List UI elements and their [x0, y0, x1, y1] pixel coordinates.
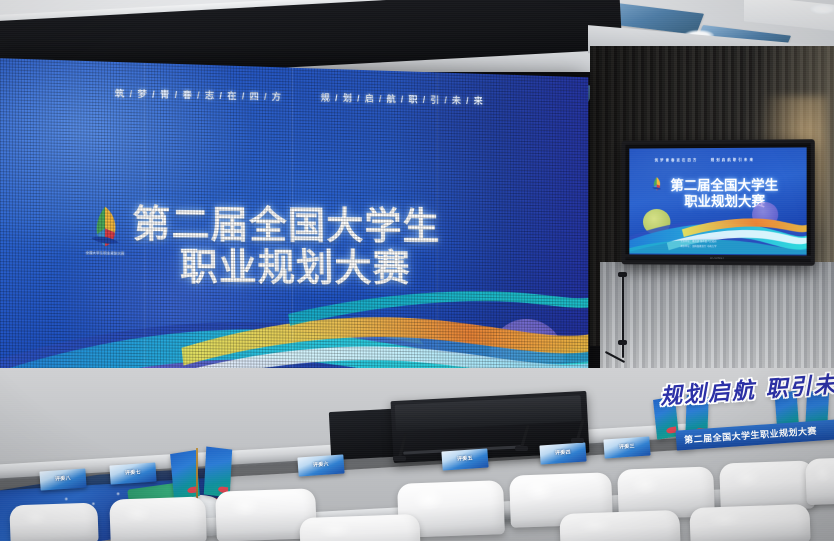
- monitor-credits: 主办单位：教育部 湖南省人民政府 承办单位：湖南省教育厅 中南大学: [680, 240, 716, 249]
- microphone-base: [393, 456, 406, 461]
- monitor-logo: [647, 174, 667, 196]
- nameplate: 评委三: [603, 436, 650, 458]
- chair: [689, 504, 810, 541]
- chair: [299, 514, 420, 541]
- main-led-screen: 筑 / 梦 / 青 / 春 / 志 / 在 / 四 / 方 规 / 划 / 启 …: [0, 58, 588, 410]
- monitor-tagline: 筑 梦 青 春 志 在 四 方 规 划 启 航 职 引 未 来: [655, 157, 799, 163]
- competition-logo: 全国大学生职业规划大赛: [75, 202, 134, 265]
- monitor-bezel-chin: HUAWEI: [625, 254, 810, 261]
- logo-caption: 全国大学生职业规划大赛: [77, 250, 132, 256]
- nameplate-label: 评委三: [604, 441, 650, 451]
- nameplate: 评委五: [441, 448, 488, 470]
- chair: [805, 457, 834, 505]
- microphone-base: [571, 438, 584, 443]
- ceiling-downlight: [810, 4, 834, 14]
- wall-cable: [622, 272, 624, 358]
- av-console-lid: [395, 395, 582, 431]
- nameplate-label: 评委八: [40, 473, 86, 483]
- monitor-credits-line1: 主办单位：教育部 湖南省人民政府: [680, 240, 716, 243]
- nameplate-label: 评委五: [442, 453, 488, 463]
- nameplate-label: 评委四: [540, 447, 586, 457]
- secondary-monitor: 筑 梦 青 春 志 在 四 方 规 划 启 航 职 引 未 来 第二届全国大学生…: [622, 139, 815, 266]
- chair: [559, 510, 680, 541]
- wall-cable-clip: [618, 340, 627, 345]
- chair: [109, 496, 207, 541]
- monitor-wave-graphics: [629, 195, 806, 258]
- screen-title-block: 第二届全国大学生 职业规划大赛: [132, 205, 441, 289]
- secondary-monitor-screen: 筑 梦 青 春 志 在 四 方 规 划 启 航 职 引 未 来 第二届全国大学生…: [629, 147, 806, 257]
- screen-title-line1: 第二届全国大学生: [132, 205, 441, 248]
- chair: [719, 460, 815, 511]
- screen-title-line2: 职业规划大赛: [180, 248, 442, 290]
- chair: [9, 502, 98, 541]
- nameplate: 评委八: [39, 468, 86, 490]
- monitor-tagline-right: 规 划 启 航 职 引 未 来: [711, 157, 754, 162]
- nameplate-label: 评委七: [110, 467, 156, 477]
- monitor-tagline-left: 筑 梦 青 春 志 在 四 方: [655, 157, 697, 162]
- nameplate: 评委四: [539, 442, 586, 464]
- monitor-credits-line2: 承办单位：湖南省教育厅 中南大学: [680, 244, 716, 247]
- screenshot-root: 筑 / 梦 / 青 / 春 / 志 / 在 / 四 / 方 规 / 划 / 启 …: [0, 0, 834, 541]
- microphone-base: [515, 446, 528, 451]
- monitor-brand-label: HUAWEI: [710, 256, 724, 260]
- nameplate: 评委七: [109, 462, 156, 484]
- nameplate-label: 评委六: [298, 459, 344, 469]
- wall-cable-clip: [618, 272, 627, 277]
- stage-pennant: [204, 446, 232, 497]
- nameplate: 评委六: [297, 454, 344, 476]
